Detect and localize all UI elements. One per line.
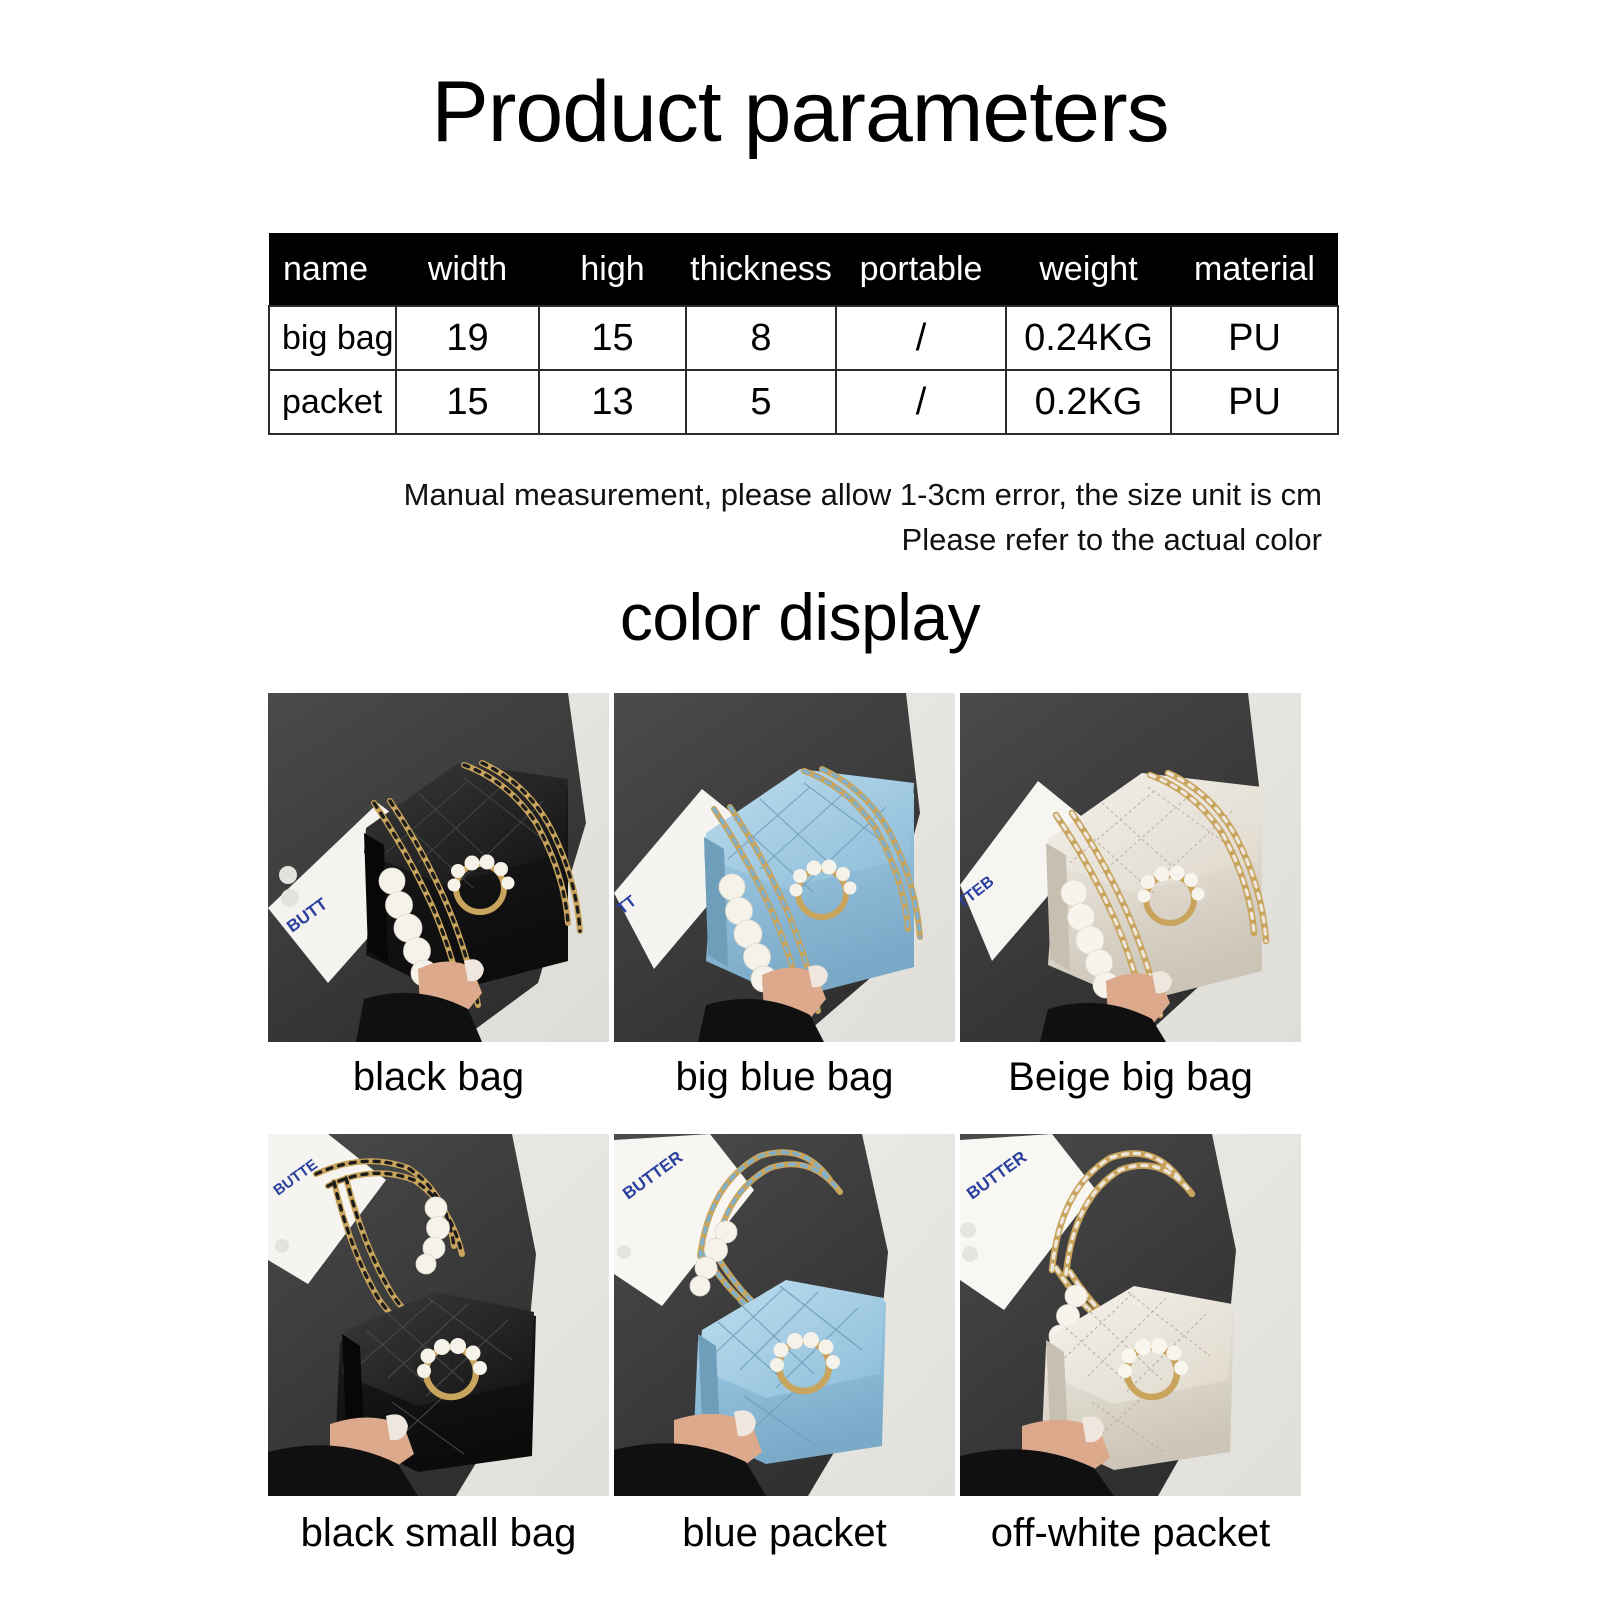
column-header-material: material bbox=[1171, 233, 1338, 306]
color-display-grid: BUTT bbox=[268, 693, 1303, 1562]
product-photo-beige-big-bag[interactable]: TTEB bbox=[960, 693, 1301, 1042]
table-row: big bag 19 15 8 / 0.24KG PU bbox=[269, 306, 1338, 370]
photo-caption: black bag bbox=[268, 1042, 609, 1106]
cell-name: big bag bbox=[269, 306, 396, 370]
product-image-svg: BUTTE bbox=[268, 1134, 609, 1496]
column-header-high: high bbox=[539, 233, 686, 306]
note-line-1: Manual measurement, please allow 1-3cm e… bbox=[0, 472, 1338, 517]
section-title-color-display: color display bbox=[0, 576, 1600, 658]
product-photo-black-bag[interactable]: BUTT bbox=[268, 693, 609, 1042]
product-photo-blue-packet[interactable]: BUTTER bbox=[614, 1134, 955, 1496]
photo-caption: big blue bag bbox=[614, 1042, 955, 1106]
color-display-row-1: BUTT bbox=[268, 693, 1303, 1106]
cell-weight: 0.2KG bbox=[1006, 370, 1171, 434]
column-header-name: name bbox=[269, 233, 396, 306]
measurement-notes: Manual measurement, please allow 1-3cm e… bbox=[0, 472, 1338, 562]
cell-width: 15 bbox=[396, 370, 539, 434]
photo-caption: black small bag bbox=[268, 1496, 609, 1562]
cell-portable: / bbox=[836, 306, 1006, 370]
cell-thickness: 5 bbox=[686, 370, 836, 434]
photo-caption: Beige big bag bbox=[960, 1042, 1301, 1106]
color-option-big-blue-bag[interactable]: TT bbox=[614, 693, 955, 1106]
product-image-svg: BUTT bbox=[268, 693, 609, 1042]
cell-weight: 0.24KG bbox=[1006, 306, 1171, 370]
product-image-svg: TT bbox=[614, 693, 955, 1042]
product-photo-big-blue-bag[interactable]: TT bbox=[614, 693, 955, 1042]
product-photo-off-white-packet[interactable]: BUTTER bbox=[960, 1134, 1301, 1496]
page-title: Product parameters bbox=[0, 62, 1600, 162]
color-option-off-white-packet[interactable]: BUTTER bbox=[960, 1134, 1301, 1562]
cell-material: PU bbox=[1171, 306, 1338, 370]
color-option-blue-packet[interactable]: BUTTER bbox=[614, 1134, 955, 1562]
product-photo-black-small-bag[interactable]: BUTTE bbox=[268, 1134, 609, 1496]
product-image-svg: TTEB bbox=[960, 693, 1301, 1042]
photo-caption: blue packet bbox=[614, 1496, 955, 1562]
cell-name: packet bbox=[269, 370, 396, 434]
column-header-weight: weight bbox=[1006, 233, 1171, 306]
color-option-black-bag[interactable]: BUTT bbox=[268, 693, 609, 1106]
color-option-black-small-bag[interactable]: BUTTE bbox=[268, 1134, 609, 1562]
table-row: packet 15 13 5 / 0.2KG PU bbox=[269, 370, 1338, 434]
column-header-thickness: thickness bbox=[686, 233, 836, 306]
cell-material: PU bbox=[1171, 370, 1338, 434]
photo-caption: off-white packet bbox=[960, 1496, 1301, 1562]
cell-thickness: 8 bbox=[686, 306, 836, 370]
color-display-row-2: BUTTE bbox=[268, 1134, 1303, 1562]
product-image-svg: BUTTER bbox=[960, 1134, 1301, 1496]
cell-width: 19 bbox=[396, 306, 539, 370]
table-header-row: name width high thickness portable weigh… bbox=[269, 233, 1338, 306]
note-line-2: Please refer to the actual color bbox=[0, 517, 1338, 562]
product-image-svg: BUTTER bbox=[614, 1134, 955, 1496]
column-header-portable: portable bbox=[836, 233, 1006, 306]
cell-high: 15 bbox=[539, 306, 686, 370]
cell-high: 13 bbox=[539, 370, 686, 434]
spec-table: name width high thickness portable weigh… bbox=[268, 233, 1339, 435]
cell-portable: / bbox=[836, 370, 1006, 434]
column-header-width: width bbox=[396, 233, 539, 306]
color-option-beige-big-bag[interactable]: TTEB bbox=[960, 693, 1301, 1106]
